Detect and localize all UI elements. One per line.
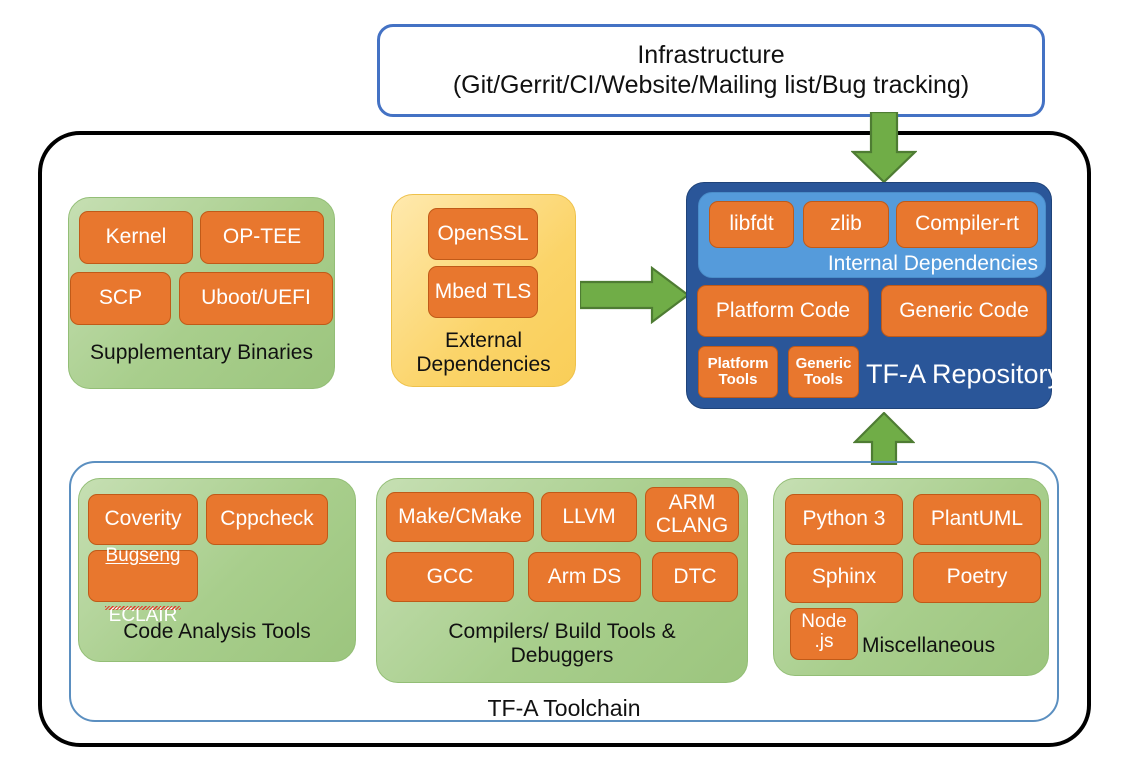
- chip-make-cmake[interactable]: Make/CMake: [386, 492, 534, 542]
- miscellaneous-label: Miscellaneous: [862, 634, 1012, 658]
- chip-llvm[interactable]: LLVM: [541, 492, 637, 542]
- tfa-repository-label: TF-A Repository: [866, 359, 1061, 390]
- chip-compiler-rt[interactable]: Compiler-rt: [896, 201, 1038, 248]
- infrastructure-title: Infrastructure: [637, 41, 784, 71]
- spellcheck-squiggle-icon: [105, 606, 180, 610]
- chip-cppcheck[interactable]: Cppcheck: [206, 494, 328, 545]
- chip-gcc[interactable]: GCC: [386, 552, 514, 602]
- chip-bugseng-line1: Bugseng: [105, 546, 180, 566]
- chip-scp[interactable]: SCP: [70, 272, 171, 325]
- infrastructure-box: Infrastructure (Git/Gerrit/CI/Website/Ma…: [377, 24, 1045, 117]
- compilers-build-tools-label: Compilers/ Build Tools & Debuggers: [376, 620, 748, 667]
- chip-arm-clang[interactable]: ARM CLANG: [645, 487, 739, 542]
- chip-platform-code[interactable]: Platform Code: [697, 285, 869, 337]
- chip-bugseng-eclair[interactable]: Bugseng ECLAIR: [88, 550, 198, 602]
- chip-dtc[interactable]: DTC: [652, 552, 738, 602]
- arrow-toolchain-to-repository: [853, 412, 915, 465]
- code-analysis-tools-label: Code Analysis Tools: [78, 620, 356, 644]
- chip-op-tee[interactable]: OP-TEE: [200, 211, 324, 264]
- external-dependencies-label: External Dependencies: [391, 329, 576, 376]
- chip-libfdt[interactable]: libfdt: [709, 201, 794, 248]
- tfa-toolchain-label: TF-A Toolchain: [69, 695, 1059, 722]
- chip-plantuml[interactable]: PlantUML: [913, 494, 1041, 545]
- chip-uboot-uefi[interactable]: Uboot/UEFI: [179, 272, 333, 325]
- arrow-infrastructure-to-repository: [851, 112, 917, 184]
- bugseng-misspelled-word: Bugseng: [105, 526, 180, 606]
- chip-zlib[interactable]: zlib: [803, 201, 889, 248]
- chip-generic-code[interactable]: Generic Code: [881, 285, 1047, 337]
- chip-generic-tools[interactable]: Generic Tools: [788, 346, 859, 398]
- chip-openssl[interactable]: OpenSSL: [428, 208, 538, 260]
- supplementary-binaries-label: Supplementary Binaries: [68, 341, 335, 365]
- chip-arm-ds[interactable]: Arm DS: [528, 552, 641, 602]
- chip-mbed-tls[interactable]: Mbed TLS: [428, 266, 538, 318]
- chip-python-3[interactable]: Python 3: [785, 494, 903, 545]
- internal-dependencies-label: Internal Dependencies: [698, 252, 1038, 276]
- arrow-external-deps-to-repository: [580, 266, 690, 324]
- chip-kernel[interactable]: Kernel: [79, 211, 193, 264]
- diagram-canvas: Infrastructure (Git/Gerrit/CI/Website/Ma…: [0, 0, 1133, 780]
- chip-sphinx[interactable]: Sphinx: [785, 552, 903, 603]
- chip-poetry[interactable]: Poetry: [913, 552, 1041, 603]
- chip-platform-tools[interactable]: Platform Tools: [698, 346, 778, 398]
- infrastructure-subtitle: (Git/Gerrit/CI/Website/Mailing list/Bug …: [453, 71, 969, 101]
- chip-node-js[interactable]: Node .js: [790, 608, 858, 660]
